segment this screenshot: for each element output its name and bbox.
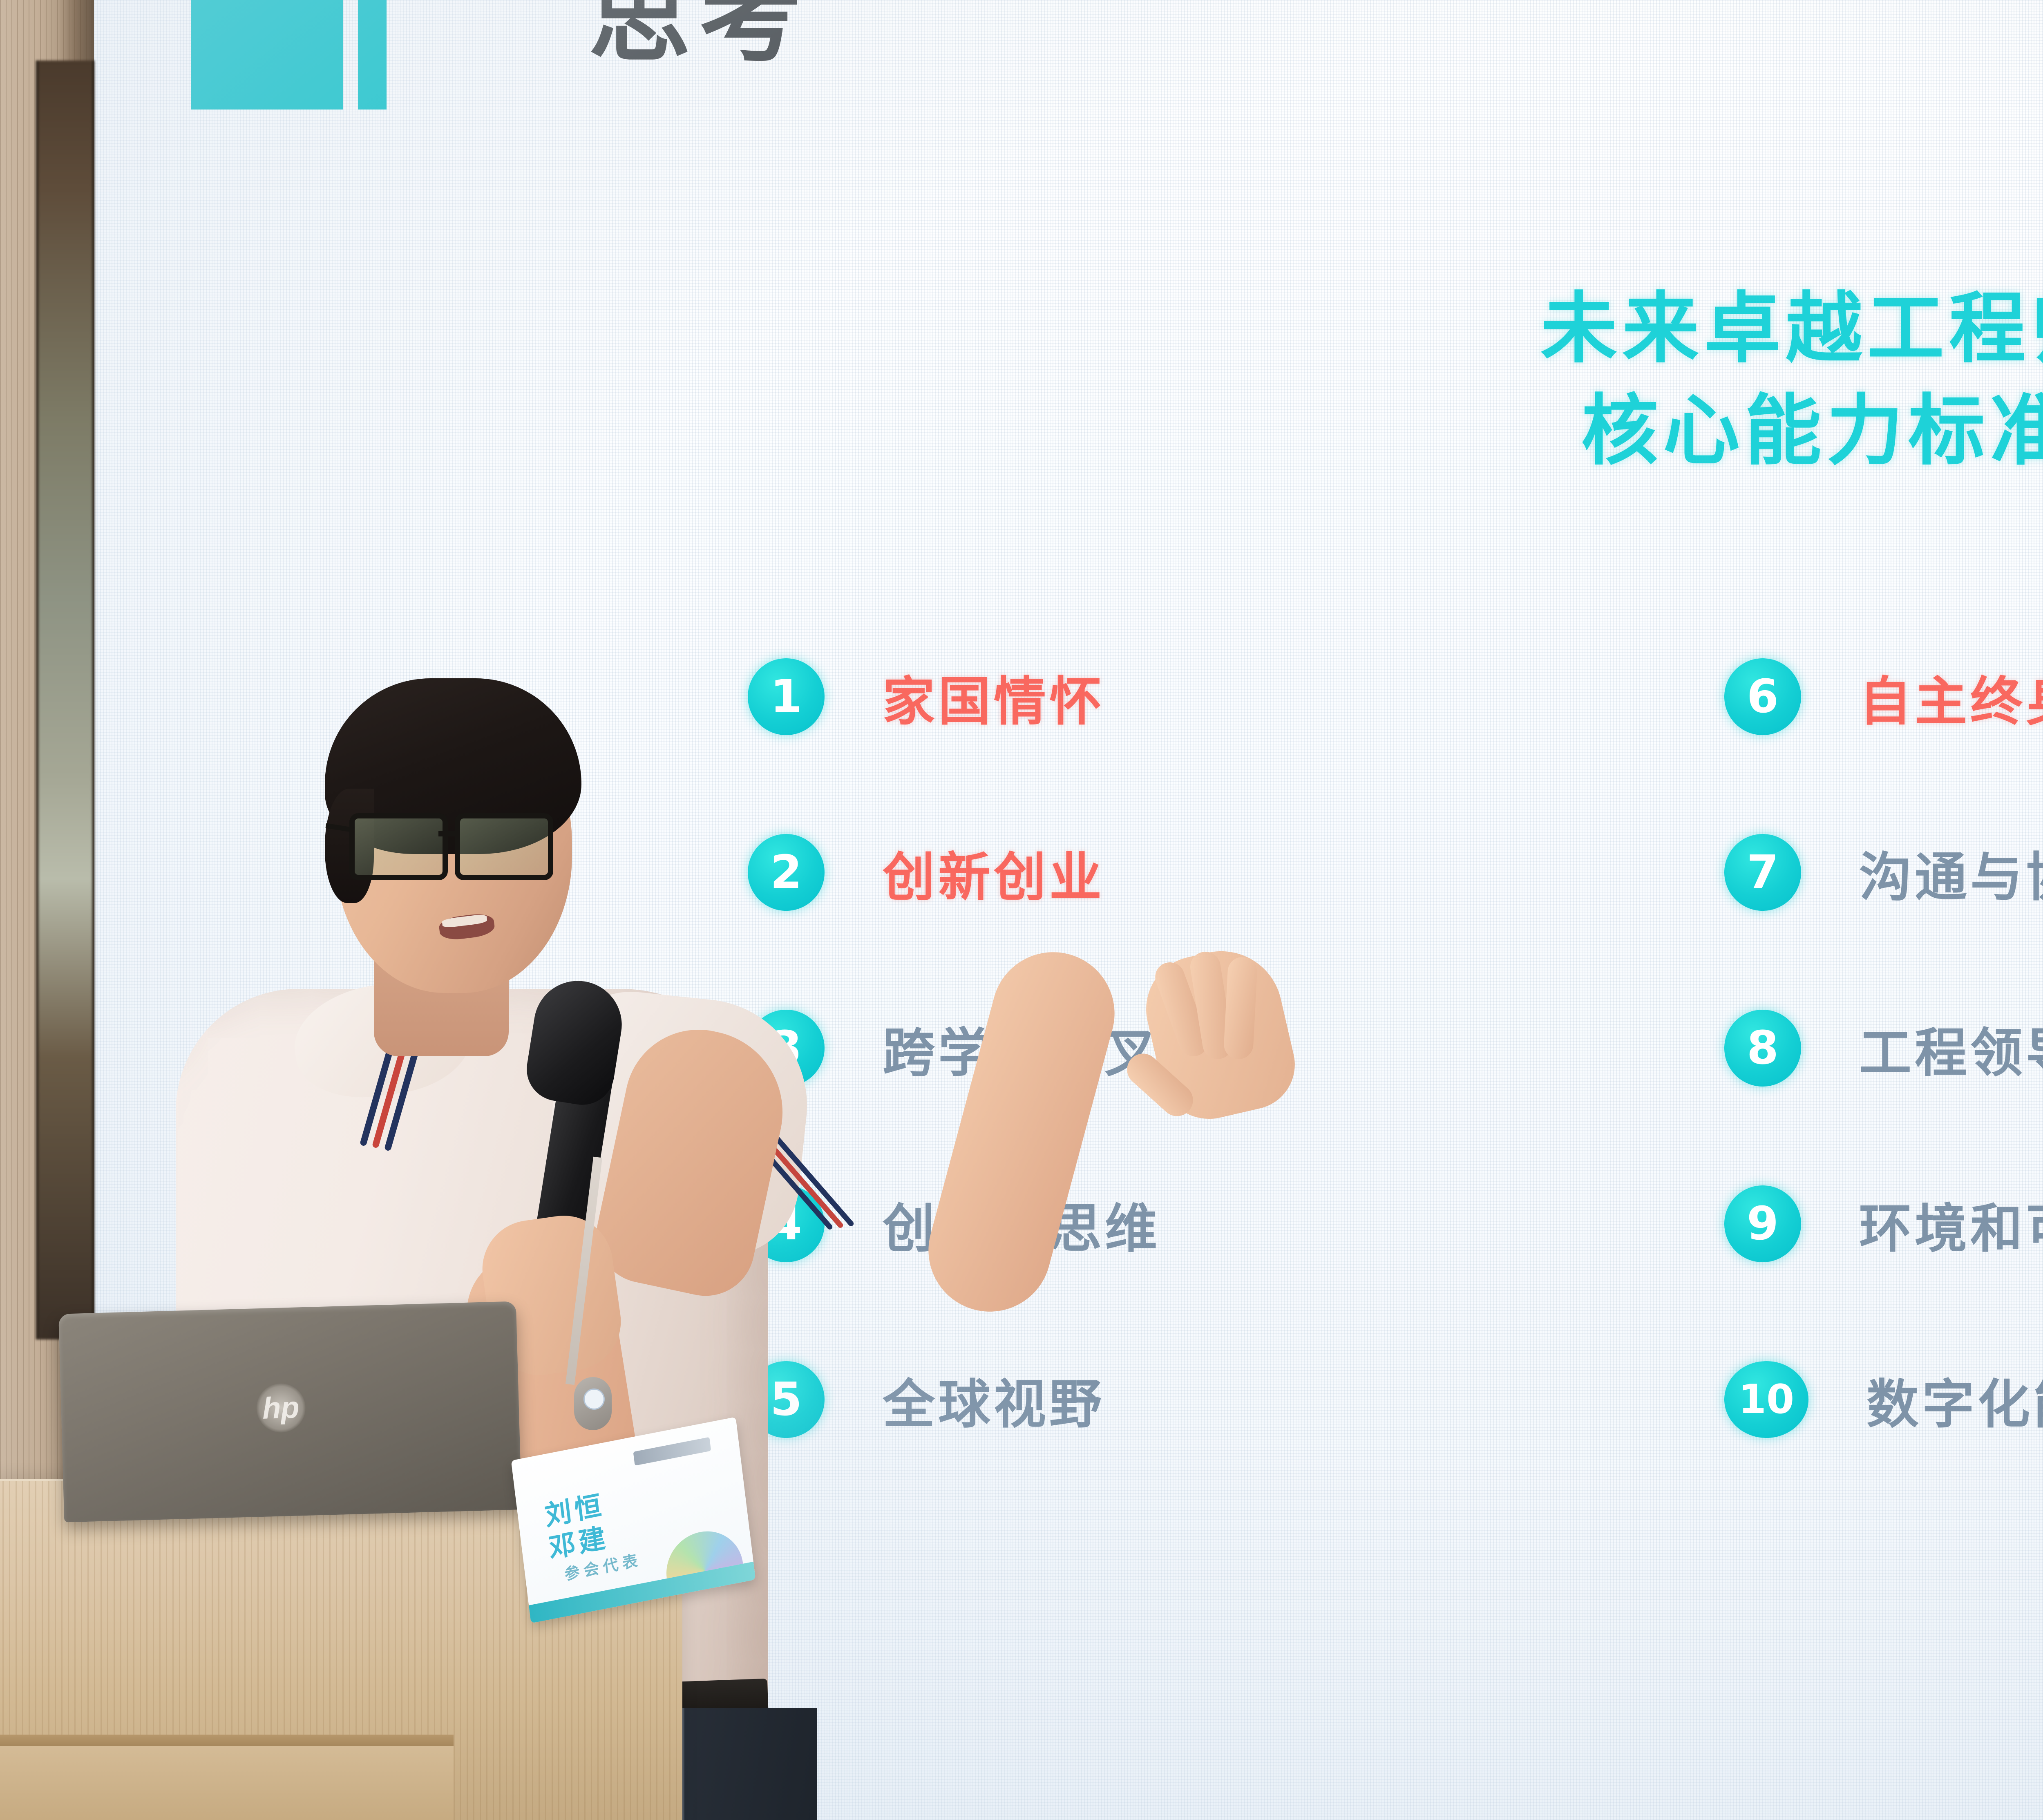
eyeglass-lens-right: [455, 813, 553, 880]
eyeglass-bridge: [438, 831, 460, 836]
competency-item: 7 沟通与协商: [1724, 785, 2043, 960]
competency-label: 数字化能力: [1866, 1362, 2043, 1438]
slide-title-line-1: 未来卓越工程师: [1295, 278, 2043, 380]
competency-item: 6 自主终身学习: [1724, 609, 2043, 785]
competency-label: 沟通与协商: [1859, 835, 2043, 910]
podium-lower-panel: [0, 1746, 454, 1820]
competency-item: 8 工程领导力: [1724, 960, 2043, 1136]
slide-title-line-2: 核心能力标准: [1295, 380, 2043, 482]
podium-edge: [0, 1735, 454, 1746]
competency-number-badge: 9: [1724, 1185, 1801, 1262]
competency-item: 9 环境和可持续发展: [1724, 1136, 2043, 1312]
competency-number-badge: 8: [1724, 1010, 1801, 1087]
competency-number-badge: 6: [1724, 658, 1801, 735]
competency-column-right: 6 自主终身学习 7 沟通与协商 8 工程领导力 9 环境和可持续发展 10 数…: [1724, 609, 2043, 1487]
laptop-computer: hp: [58, 1301, 522, 1522]
competency-label: 自主终身学习: [1859, 659, 2043, 735]
competency-number-badge: 7: [1724, 834, 1801, 911]
eyeglasses-icon: [345, 813, 574, 874]
jeans-seam: [682, 1708, 684, 1820]
badge-reel-logo-icon: [583, 1388, 605, 1410]
slide-main-title: 未来卓越工程师 核心能力标准: [1295, 278, 2043, 482]
competency-label: 环境和可持续发展: [1859, 1186, 2043, 1262]
badge-organizer-logo-icon: [633, 1437, 711, 1466]
hp-logo-icon: hp: [256, 1383, 306, 1433]
eyeglass-lens-left: [349, 813, 448, 880]
presentation-photo-stage: 思考 未来卓越工程师 核心能力标准 1 家国情怀 2 创新创业 3 跨学科交叉融…: [0, 0, 2043, 1820]
competency-number-badge: 10: [1724, 1361, 1808, 1438]
competency-label: 工程领导力: [1859, 1011, 2043, 1086]
hand-finger: [1223, 956, 1258, 1060]
competency-item: 10 数字化能力: [1724, 1312, 2043, 1487]
